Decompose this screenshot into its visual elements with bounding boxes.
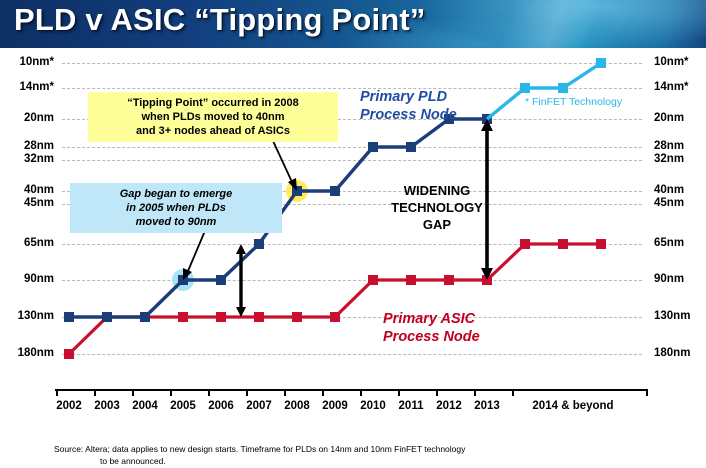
gap-arrow-2007 [236, 244, 246, 317]
y-tick-label-left-10nm: 10nm* [19, 57, 54, 69]
x-label-2011: 2011 [399, 400, 424, 412]
y-tick-label-left-130nm: 130nm [18, 311, 54, 323]
y-tick-label-right-32nm: 32nm [654, 154, 684, 166]
y-tick-label-left-90nm: 90nm [24, 274, 54, 286]
x-tick-8 [360, 389, 362, 396]
series-markers-asic [64, 239, 606, 359]
x-label-2007: 2007 [246, 400, 272, 412]
x-tick-2 [132, 389, 134, 396]
callout-tipping-point-line1: “Tipping Point” occurred in 2008 [95, 96, 331, 110]
series-label-asic: Primary ASIC Process Node [383, 310, 480, 346]
x-label-2003: 2003 [94, 400, 120, 412]
y-tick-label-right-28nm: 28nm [654, 141, 684, 153]
x-tick-5 [246, 389, 248, 396]
callout-gap-begin: Gap began to emerge in 2005 when PLDs mo… [70, 183, 282, 233]
series-label-asic-line1: Primary ASIC [383, 310, 480, 328]
series-label-asic-line2: Process Node [383, 328, 480, 346]
x-tick-4 [208, 389, 210, 396]
x-tick-10 [436, 389, 438, 396]
chart-plot-area: Primary PLD Process Node Primary ASIC Pr… [62, 56, 642, 362]
x-label-2010: 2010 [360, 400, 386, 412]
y-tick-label-left-28nm: 28nm [24, 141, 54, 153]
x-axis-line [55, 389, 648, 391]
x-tick-3 [170, 389, 172, 396]
x-label-2002: 2002 [56, 400, 82, 412]
x-label-2008: 2008 [284, 400, 310, 412]
x-tick-1 [94, 389, 96, 396]
x-tick-7 [322, 389, 324, 396]
x-tick-13 [646, 389, 648, 396]
x-tick-12 [512, 389, 514, 396]
callout-gap-begin-line3: moved to 90nm [77, 215, 275, 229]
y-tick-label-right-20nm: 20nm [654, 113, 684, 125]
callout-gap-begin-line2: in 2005 when PLDs [77, 201, 275, 215]
x-label-2014-beyond: 2014 & beyond [532, 400, 613, 412]
x-tick-11 [474, 389, 476, 396]
y-tick-label-right-10nm: 10nm* [654, 57, 689, 69]
y-tick-label-left-45nm: 45nm [24, 198, 54, 210]
x-axis-labels: 2002 2003 2004 2005 2006 2007 2008 2009 … [0, 400, 706, 418]
x-label-2009: 2009 [322, 400, 348, 412]
x-label-2006: 2006 [208, 400, 234, 412]
series-line-asic [69, 244, 601, 354]
y-tick-label-right-40nm: 40nm [654, 185, 684, 197]
series-line-pld-finfet [487, 63, 601, 119]
y-tick-label-right-45nm: 45nm [654, 198, 684, 210]
y-tick-label-left-20nm: 20nm [24, 113, 54, 125]
series-label-pld-line2: Process Node [360, 106, 457, 124]
source-footnote: Source: Altera; data applies to new desi… [54, 443, 674, 468]
source-footnote-line1: Source: Altera; data applies to new desi… [54, 444, 465, 454]
y-tick-label-right-65nm: 65nm [654, 238, 684, 250]
y-tick-label-left-14nm: 14nm* [19, 82, 54, 94]
widening-gap-label: WIDENING TECHNOLOGY GAP [372, 183, 502, 234]
y-tick-label-left-40nm: 40nm [24, 185, 54, 197]
source-footnote-line2: to be announced. [100, 455, 674, 467]
y-tick-label-right-130nm: 130nm [654, 311, 690, 323]
title-banner: PLD v ASIC “Tipping Point” [0, 0, 706, 48]
widening-gap-line2: TECHNOLOGY [372, 200, 502, 217]
x-label-2012: 2012 [436, 400, 462, 412]
y-tick-label-left-180nm: 180nm [18, 348, 54, 360]
page-title: PLD v ASIC “Tipping Point” [14, 2, 426, 38]
series-label-pld-line1: Primary PLD [360, 88, 457, 106]
callout-tipping-point: “Tipping Point” occurred in 2008 when PL… [88, 92, 338, 142]
y-tick-label-left-32nm: 32nm [24, 154, 54, 166]
y-tick-label-right-180nm: 180nm [654, 348, 690, 360]
y-tick-label-left-65nm: 65nm [24, 238, 54, 250]
callout-tipping-point-line2: when PLDs moved to 40nm [95, 110, 331, 124]
x-tick-6 [284, 389, 286, 396]
x-label-2013: 2013 [474, 400, 500, 412]
y-tick-label-right-14nm: 14nm* [654, 82, 689, 94]
x-tick-9 [398, 389, 400, 396]
y-tick-label-right-90nm: 90nm [654, 274, 684, 286]
callout-gap-begin-line1: Gap began to emerge [77, 187, 275, 201]
widening-gap-line1: WIDENING [372, 183, 502, 200]
finfet-note: * FinFET Technology [525, 96, 622, 108]
callout-tipping-point-line3: and 3+ nodes ahead of ASICs [95, 124, 331, 138]
series-label-pld: Primary PLD Process Node [360, 88, 457, 124]
x-label-2004: 2004 [132, 400, 158, 412]
x-tick-0 [56, 389, 58, 396]
x-label-2005: 2005 [170, 400, 196, 412]
widening-gap-line3: GAP [372, 217, 502, 234]
